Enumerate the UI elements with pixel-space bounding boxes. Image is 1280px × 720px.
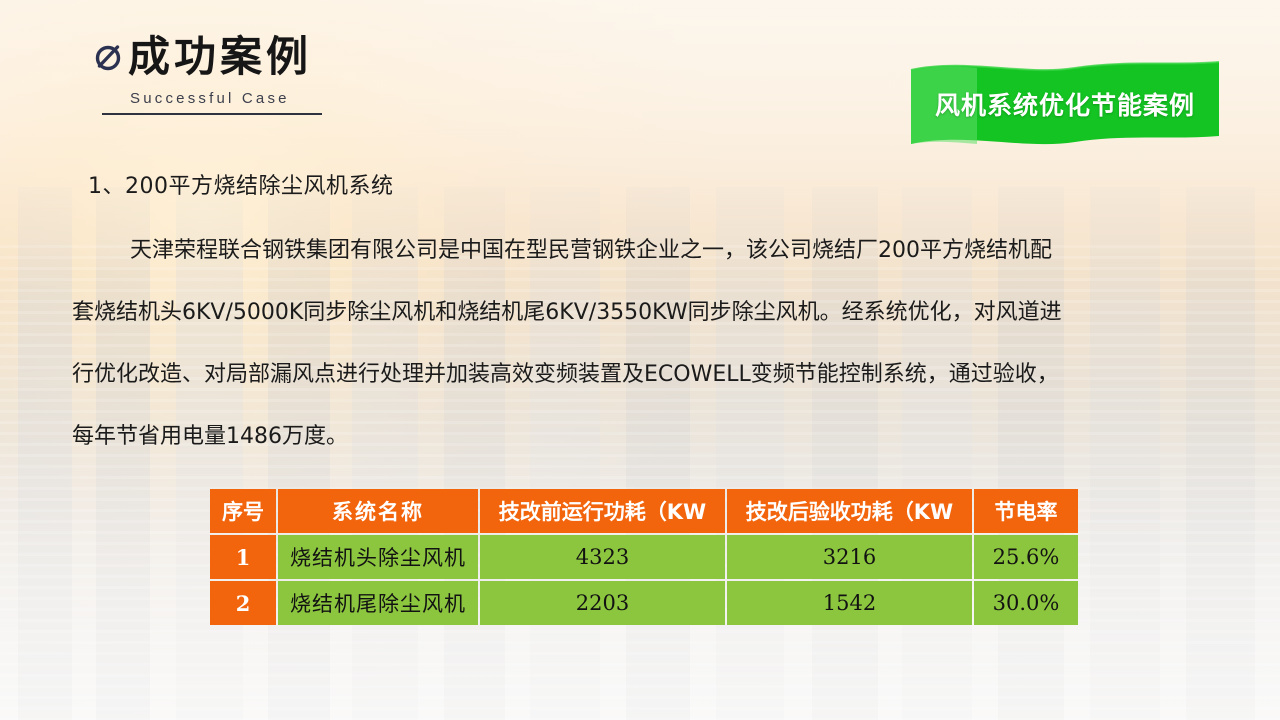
table-header-row: 序号 系统名称 技改前运行功耗（KW 技改后验收功耗（KW 节电率	[210, 489, 1078, 533]
cell-power-before: 4323	[480, 535, 725, 579]
title-underline	[102, 113, 322, 115]
paragraph-line: 行优化改造、对局部漏风点进行处理并加装高效变频装置及ECOWELL变频节能控制系…	[72, 344, 1264, 406]
table-row: 2 烧结机尾除尘风机 2203 1542 30.0%	[210, 581, 1078, 625]
page-subtitle: Successful Case	[130, 90, 322, 107]
table-header-power-before: 技改前运行功耗（KW	[480, 489, 725, 533]
cell-saving-rate: 25.6%	[974, 535, 1078, 579]
cell-power-after: 3216	[727, 535, 972, 579]
paragraph-block: 天津荣程联合钢铁集团有限公司是中国在型民营钢铁企业之一，该公司烧结厂200平方烧…	[0, 220, 1280, 468]
cell-system-name: 烧结机尾除尘风机	[278, 581, 478, 625]
table-header-system-name: 系统名称	[278, 489, 478, 533]
paragraph-line: 套烧结机头6KV/5000K同步除尘风机和烧结机尾6KV/3550KW同步除尘风…	[72, 282, 1264, 344]
slide-canvas: 成功案例 Successful Case 风机系统优化节能案例 1、200平方烧…	[0, 0, 1280, 720]
cell-power-after: 1542	[727, 581, 972, 625]
table-header-power-after: 技改后验收功耗（KW	[727, 489, 972, 533]
cell-system-name: 烧结机头除尘风机	[278, 535, 478, 579]
ribbon-badge: 风机系统优化节能案例	[905, 60, 1225, 150]
cell-index: 1	[210, 535, 276, 579]
slide-header: 成功案例 Successful Case	[92, 36, 322, 115]
results-table: 序号 系统名称 技改前运行功耗（KW 技改后验收功耗（KW 节电率 1 烧结机头…	[208, 487, 1080, 627]
body-content: 1、200平方烧结除尘风机系统 天津荣程联合钢铁集团有限公司是中国在型民营钢铁企…	[0, 168, 1280, 468]
cell-power-before: 2203	[480, 581, 725, 625]
table-header-index: 序号	[210, 489, 276, 533]
paragraph-line: 天津荣程联合钢铁集团有限公司是中国在型民营钢铁企业之一，该公司烧结厂200平方烧…	[130, 220, 1264, 282]
paragraph-line: 每年节省用电量1486万度。	[72, 406, 1264, 468]
page-title: 成功案例	[128, 36, 312, 78]
results-table-wrapper: 序号 系统名称 技改前运行功耗（KW 技改后验收功耗（KW 节电率 1 烧结机头…	[208, 487, 1076, 627]
ribbon-label: 风机系统优化节能案例	[905, 60, 1225, 150]
title-row: 成功案例	[92, 36, 322, 78]
table-header-saving-rate: 节电率	[974, 489, 1078, 533]
cell-saving-rate: 30.0%	[974, 581, 1078, 625]
slashed-circle-icon	[92, 40, 126, 74]
table-row: 1 烧结机头除尘风机 4323 3216 25.6%	[210, 535, 1078, 579]
cell-index: 2	[210, 581, 276, 625]
section-subheading: 1、200平方烧结除尘风机系统	[88, 168, 1280, 200]
